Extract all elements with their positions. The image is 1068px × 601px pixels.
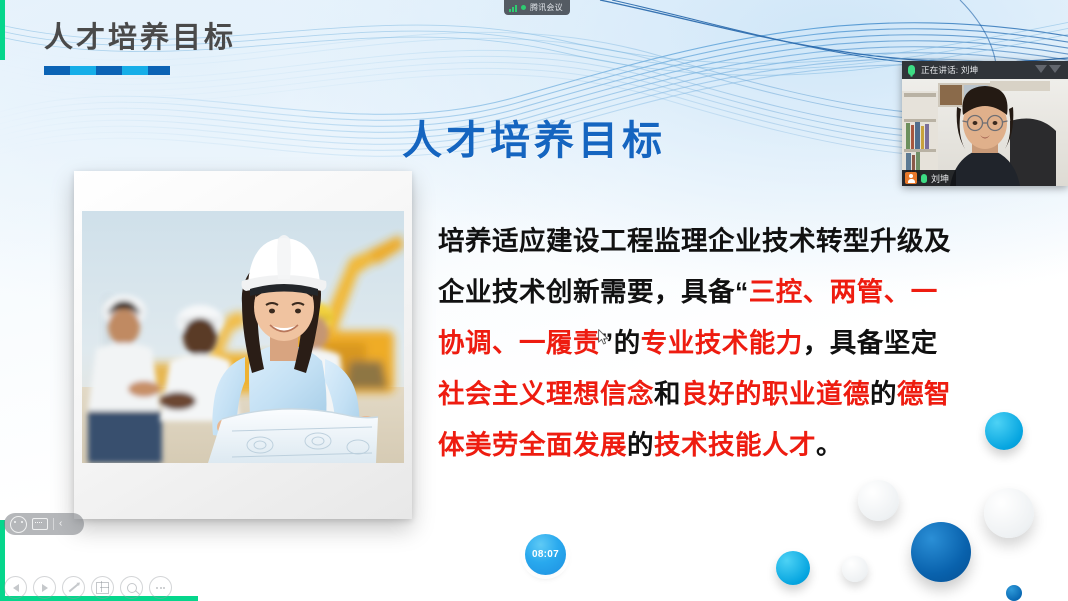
photo-card xyxy=(74,171,412,519)
text-run: 的 xyxy=(870,379,897,409)
decorative-circle xyxy=(858,480,899,521)
highlighted-text-run: 德智 xyxy=(897,379,951,409)
slide-body-line: 培养适应建设工程监理企业技术转型升级及 xyxy=(438,216,1010,267)
previous-slide-button[interactable] xyxy=(4,576,27,599)
signal-bars-icon xyxy=(509,4,517,12)
highlighted-text-run: 协调、一履责 xyxy=(438,328,600,358)
next-slide-button[interactable] xyxy=(33,576,56,599)
zoom-button[interactable] xyxy=(120,576,143,599)
meeting-timer-badge: 08:07 xyxy=(525,534,566,575)
decorative-circle xyxy=(911,522,971,582)
annotate-button[interactable] xyxy=(62,576,85,599)
slide-overview-button[interactable] xyxy=(91,576,114,599)
video-panel[interactable]: 正在讲话: 刘坤 xyxy=(902,61,1068,186)
text-run: 。 xyxy=(816,430,843,460)
highlighted-text-run: 三控、两管、一 xyxy=(749,277,938,307)
status-dot-icon xyxy=(521,5,526,10)
slide-body-line: 社会主义理想信念和良好的职业道德的德智 xyxy=(438,369,1010,420)
participant-name-tag: 刘坤 xyxy=(902,170,956,186)
header-title: 人才培养目标 xyxy=(44,24,236,53)
more-options-button[interactable] xyxy=(149,576,172,599)
microphone-icon xyxy=(921,174,927,183)
slide-body-line: 协调、一履责”的专业技术能力，具备坚定 xyxy=(438,318,1010,369)
chat-bubble-icon[interactable] xyxy=(32,518,48,530)
slide-header: 人才培养目标 xyxy=(44,24,236,75)
presentation-screen: 人才培养目标 人才培养目标 xyxy=(0,0,1068,601)
meeting-status-pill[interactable]: 腾讯会议 xyxy=(504,0,570,15)
user-avatar-icon xyxy=(905,172,917,184)
divider xyxy=(53,518,54,530)
highlighted-text-run: 专业技术能力 xyxy=(641,328,803,358)
header-rule xyxy=(44,66,170,75)
meeting-timer-value: 08:07 xyxy=(532,549,559,560)
reaction-toolbar[interactable]: ‹ xyxy=(4,513,84,535)
participant-name: 刘坤 xyxy=(931,172,949,185)
highlighted-text-run: 社会主义理想信念 xyxy=(438,379,654,409)
double-chevron-icon[interactable] xyxy=(1035,65,1061,73)
mouse-cursor xyxy=(598,329,609,345)
slide-body-text: 培养适应建设工程监理企业技术转型升级及企业技术创新需要，具备“三控、两管、一协调… xyxy=(438,216,1010,471)
screen-share-border xyxy=(0,0,5,60)
text-run: 和 xyxy=(654,379,681,409)
chevron-left-icon[interactable]: ‹ xyxy=(59,519,62,529)
smiley-face-icon[interactable] xyxy=(10,516,27,533)
decorative-circle xyxy=(776,551,810,585)
decorative-circle xyxy=(984,488,1034,538)
decorative-circle xyxy=(985,412,1023,450)
text-run: 企业技术创新需要，具备“ xyxy=(438,277,749,307)
video-panel-header: 正在讲话: 刘坤 xyxy=(902,61,1068,79)
highlighted-text-run: 良好的职业道德 xyxy=(681,379,870,409)
slide-body-line: 企业技术创新需要，具备“三控、两管、一 xyxy=(438,267,1010,318)
highlighted-text-run: 体美劳全面发展 xyxy=(438,430,627,460)
decorative-circle xyxy=(1006,585,1022,601)
active-speaker-label: 正在讲话: 刘坤 xyxy=(921,64,978,76)
microphone-icon xyxy=(908,65,915,75)
text-run: 的 xyxy=(627,430,654,460)
slide-body-line: 体美劳全面发展的技术技能人才。 xyxy=(438,420,1010,471)
text-run: 培养适应建设工程监理企业技术转型升级及 xyxy=(438,226,951,256)
highlighted-text-run: 技术技能人才 xyxy=(654,430,816,460)
construction-team-photo xyxy=(82,211,404,463)
text-run: ，具备坚定 xyxy=(803,328,938,358)
meeting-app-label: 腾讯会议 xyxy=(530,2,563,13)
presentation-toolbar[interactable] xyxy=(4,576,172,599)
decorative-circle xyxy=(842,556,868,582)
